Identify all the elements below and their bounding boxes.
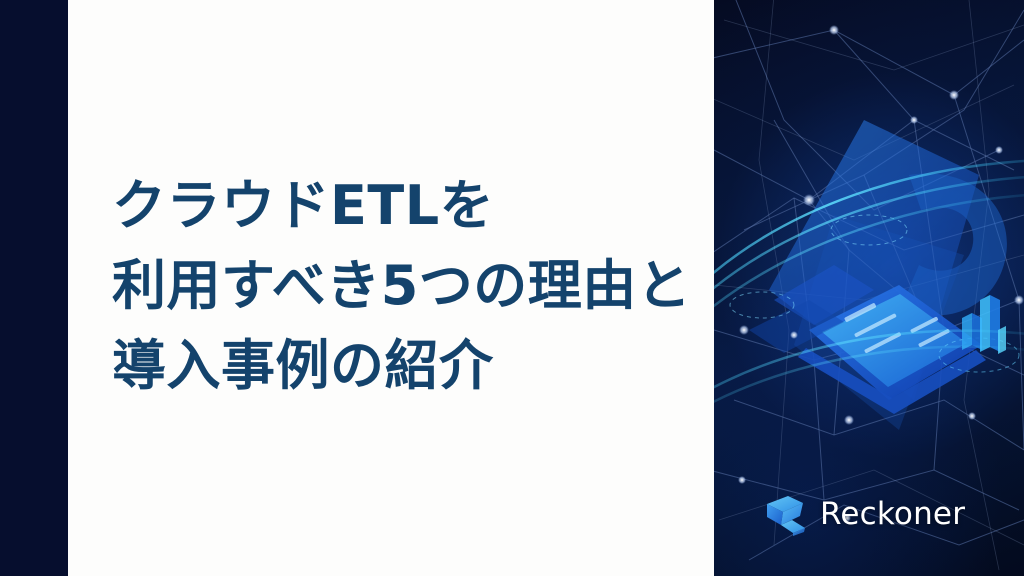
reckoner-ribbon-r-icon: [764, 492, 808, 536]
title-line-2: 利用すべき5つの理由と: [112, 246, 712, 326]
title-line-1: クラウドETLを: [112, 166, 712, 246]
brand-lockup: Reckoner: [764, 492, 965, 536]
network-illustration: [714, 0, 1024, 576]
brand-name: Reckoner: [820, 499, 965, 530]
left-accent-bar: [0, 0, 68, 576]
page-title: クラウドETLを 利用すべき5つの理由と 導入事例の紹介: [112, 166, 712, 406]
title-line-3: 導入事例の紹介: [112, 326, 712, 406]
slide-canvas: クラウドETLを 利用すべき5つの理由と 導入事例の紹介: [0, 0, 1024, 576]
hero-artwork: Reckoner: [714, 0, 1024, 576]
